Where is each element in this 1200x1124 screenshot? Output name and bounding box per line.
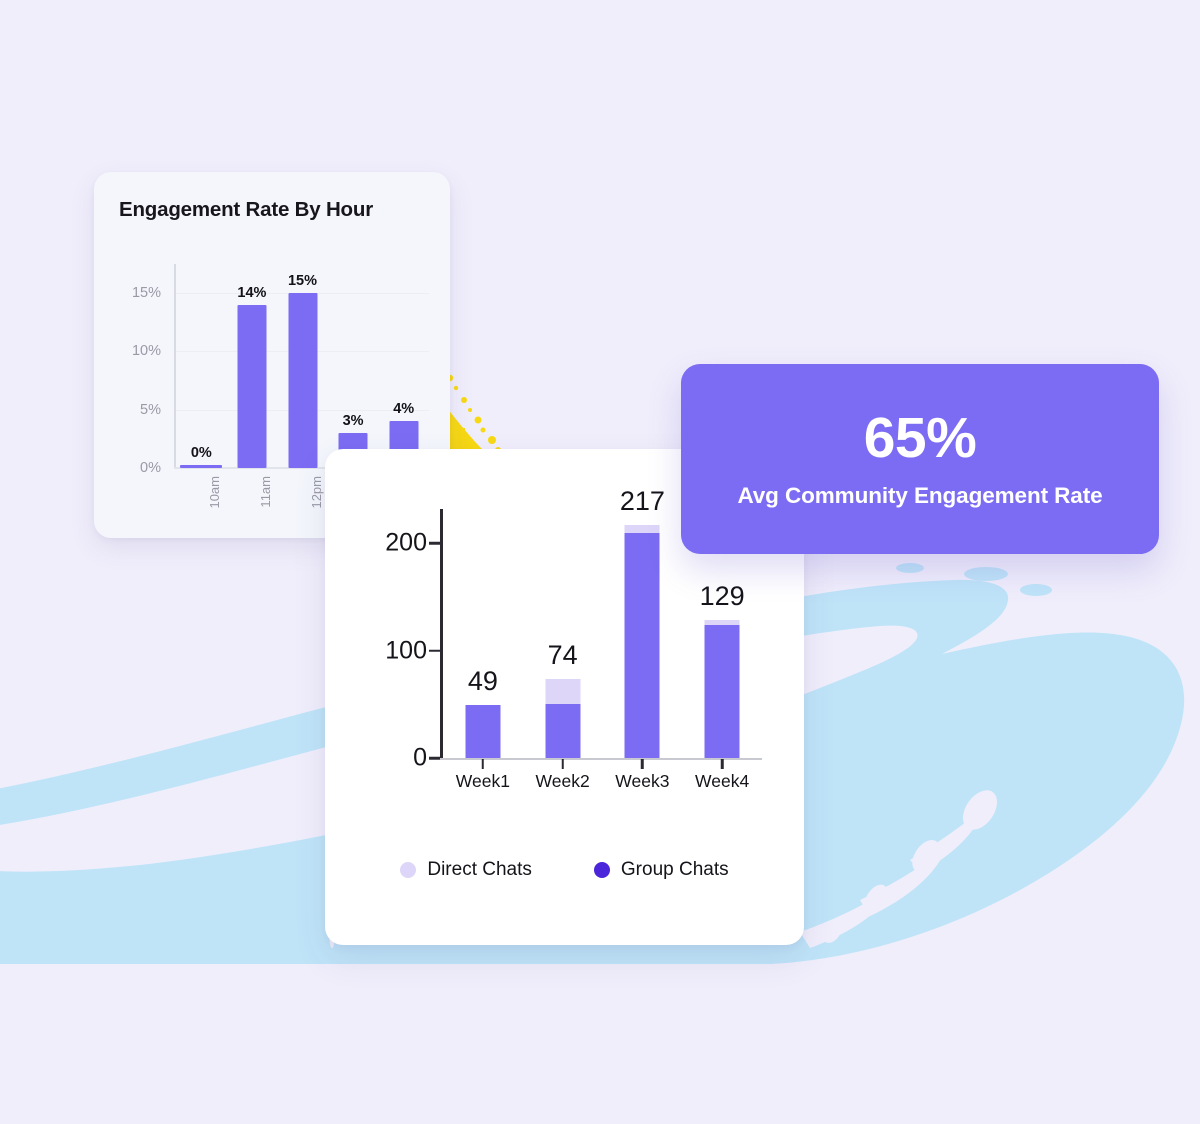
weekly-y-tick-mark bbox=[429, 649, 440, 652]
weekly-x-tick-label: Week1 bbox=[456, 771, 510, 792]
weekly-bar-group[interactable]: 217Week3 bbox=[603, 509, 682, 758]
weekly-y-tick-label: 200 bbox=[385, 529, 427, 558]
weekly-y-axis-labels: 0100200 bbox=[377, 509, 437, 759]
legend-color-dot-icon bbox=[594, 862, 610, 878]
hourly-bar-group[interactable]: 14% bbox=[228, 264, 276, 468]
legend-label: Group Chats bbox=[621, 859, 729, 881]
hourly-bar-group[interactable]: 4% bbox=[380, 264, 428, 468]
weekly-x-tick-label: Week2 bbox=[536, 771, 590, 792]
weekly-stacked-bar bbox=[705, 620, 740, 758]
weekly-y-tick-label: 0 bbox=[413, 744, 427, 773]
weekly-x-tick-mark bbox=[561, 759, 564, 769]
weekly-bar-segment-group-chats bbox=[465, 705, 500, 758]
hourly-bar-value-label: 4% bbox=[393, 401, 414, 417]
weekly-y-tick-mark bbox=[429, 542, 440, 545]
weekly-y-tick-label: 100 bbox=[385, 636, 427, 665]
legend-color-dot-icon bbox=[400, 862, 416, 878]
weekly-bar-value-label: 74 bbox=[548, 640, 578, 671]
weekly-x-tick-label: Week3 bbox=[615, 771, 669, 792]
weekly-bar-value-label: 49 bbox=[468, 666, 498, 697]
hourly-x-tick-label: 11am bbox=[258, 476, 273, 508]
legend-item[interactable]: Direct Chats bbox=[400, 859, 532, 881]
weekly-bar-group[interactable]: 49Week1 bbox=[443, 509, 522, 758]
weekly-stacked-bar bbox=[465, 705, 500, 758]
weekly-bar-value-label: 217 bbox=[620, 486, 665, 517]
weekly-stacked-bar bbox=[625, 525, 660, 758]
weekly-chart-legend: Direct ChatsGroup Chats bbox=[325, 859, 804, 881]
stat-label: Avg Community Engagement Rate bbox=[737, 483, 1102, 509]
dashboard-canvas: Engagement Rate By Hour 0%5%10%15% 0%14%… bbox=[0, 0, 1200, 1124]
legend-label: Direct Chats bbox=[427, 859, 532, 881]
weekly-bar-segment-group-chats bbox=[545, 704, 580, 758]
hourly-bar-group[interactable]: 3% bbox=[329, 264, 377, 468]
weekly-x-tick-label: Week4 bbox=[695, 771, 749, 792]
weekly-bar-segment-direct-chats bbox=[545, 679, 580, 705]
hourly-y-tick-label: 0% bbox=[140, 460, 161, 476]
avg-engagement-stat-card[interactable]: 65% Avg Community Engagement Rate bbox=[681, 364, 1159, 554]
hourly-y-tick-label: 15% bbox=[132, 285, 161, 301]
hourly-y-tick-label: 5% bbox=[140, 402, 161, 418]
weekly-x-tick-mark bbox=[482, 759, 485, 769]
weekly-x-tick-mark bbox=[721, 759, 724, 769]
weekly-bar-segment-group-chats bbox=[625, 533, 660, 758]
weekly-bar-group[interactable]: 74Week2 bbox=[523, 509, 602, 758]
hourly-bar-value-label: 0% bbox=[191, 445, 212, 461]
weekly-stacked-bar bbox=[545, 679, 580, 758]
hourly-y-tick-label: 10% bbox=[132, 343, 161, 359]
hourly-bar-value-label: 15% bbox=[288, 273, 317, 289]
hourly-bar-value-label: 3% bbox=[343, 413, 364, 429]
weekly-bar-segment-group-chats bbox=[705, 625, 740, 758]
hourly-x-tick-label: 10am bbox=[207, 476, 222, 509]
weekly-chart-plot: 0100200 49Week174Week2217Week3129Week4 bbox=[377, 509, 767, 839]
hourly-y-axis-labels: 0%5%10%15% bbox=[119, 264, 161, 464]
hourly-bars: 0%14%15%3%4% bbox=[176, 264, 429, 468]
weekly-bar-value-label: 129 bbox=[700, 581, 745, 612]
weekly-bar-segment-direct-chats bbox=[625, 525, 660, 533]
hourly-bar-value-label: 14% bbox=[237, 285, 266, 301]
stat-value: 65% bbox=[864, 410, 977, 467]
weekly-x-tick-mark bbox=[641, 759, 644, 769]
weekly-y-tick-mark bbox=[429, 757, 440, 760]
hourly-x-tick-label: 12pm bbox=[309, 476, 324, 509]
page-title: Engagement Rate By Hour bbox=[119, 198, 373, 222]
hourly-bar-group[interactable]: 15% bbox=[279, 264, 327, 468]
weekly-x-axis-line bbox=[440, 758, 762, 760]
hourly-bar bbox=[288, 293, 317, 468]
hourly-bar bbox=[180, 465, 222, 468]
legend-item[interactable]: Group Chats bbox=[594, 859, 729, 881]
hourly-bar bbox=[237, 305, 266, 468]
hourly-bar-group[interactable]: 0% bbox=[177, 264, 225, 468]
